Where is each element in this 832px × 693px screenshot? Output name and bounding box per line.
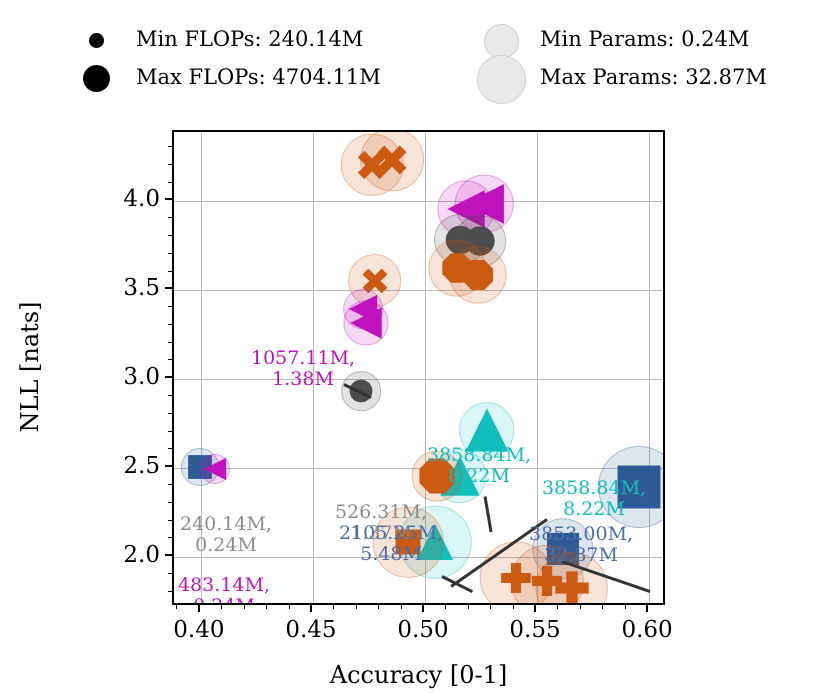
y-minor-tick (168, 306, 172, 307)
y-minor-tick (168, 342, 172, 343)
x-tick-label-0: 0.40 (173, 617, 224, 643)
y-tick-label-1: 2.5 (102, 453, 160, 479)
x-minor-tick (378, 605, 379, 609)
data-point-x (357, 150, 388, 181)
gridline-x-4 (649, 132, 650, 603)
legend-label-params-min: Min Params: 0.24M (540, 29, 749, 50)
x-tick-label-2: 0.50 (397, 617, 448, 643)
y-minor-tick (168, 146, 172, 147)
x-tick-label-3: 0.55 (509, 617, 560, 643)
x-minor-tick (176, 605, 177, 609)
y-tick-label-3: 3.5 (102, 275, 160, 301)
y-major-tick-4 (165, 198, 172, 200)
x-minor-tick (580, 605, 581, 609)
y-minor-tick (168, 573, 172, 574)
x-minor-tick (490, 605, 491, 609)
annotation-label-5: 3858.84M, 8.22M (427, 445, 531, 487)
x-major-tick-1 (310, 605, 312, 612)
legend-panel: Min FLOPs: 240.14MMax FLOPs: 4704.11MMin… (0, 0, 832, 118)
small-filled-circle-icon (89, 33, 104, 48)
large-filled-circle-icon (83, 65, 110, 92)
y-major-tick-1 (165, 465, 172, 467)
large-open-circle-icon (477, 55, 526, 104)
annotation-label-6: 3858.84M, 8.22M (542, 478, 646, 520)
data-point-triangle-left (204, 458, 226, 480)
x-minor-tick (266, 605, 267, 609)
y-minor-tick (168, 235, 172, 236)
annotation-label-4: 2105.25M, 5.48M (339, 523, 443, 565)
data-point-plus (555, 572, 588, 605)
annotation-label-0: 1057.11M, 1.38M (251, 348, 355, 390)
legend-label-flops-min: Min FLOPs: 240.14M (136, 29, 363, 50)
y-minor-tick (168, 591, 172, 592)
x-minor-tick (445, 605, 446, 609)
annotation-label-1: 240.14M, 0.24M (180, 514, 272, 556)
legend-label-params-max: Max Params: 32.87M (540, 67, 767, 88)
x-major-tick-4 (646, 605, 648, 612)
gridline-y-3 (174, 290, 663, 291)
x-minor-tick (356, 605, 357, 609)
x-minor-tick (289, 605, 290, 609)
x-tick-label-4: 0.60 (621, 617, 672, 643)
data-point-triangle-left (350, 308, 381, 339)
plot-area: 1057.11M, 1.38M240.14M, 0.24M483.14M, 0.… (172, 130, 665, 605)
gridline-y-2 (174, 379, 663, 380)
x-minor-tick (244, 605, 245, 609)
figure: 1057.11M, 1.38M240.14M, 0.24M483.14M, 0.… (0, 118, 832, 693)
y-minor-tick (168, 395, 172, 396)
y-minor-tick (168, 217, 172, 218)
y-minor-tick (168, 448, 172, 449)
small-open-circle-icon (484, 24, 519, 59)
x-axis-label: Accuracy [0-1] (172, 661, 665, 689)
y-tick-label-2: 3.0 (102, 364, 160, 390)
y-minor-tick (168, 431, 172, 432)
y-minor-tick (168, 271, 172, 272)
y-minor-tick (168, 484, 172, 485)
y-major-tick-2 (165, 376, 172, 378)
y-tick-label-0: 2.0 (102, 542, 160, 568)
y-minor-tick (168, 253, 172, 254)
x-tick-label-1: 0.45 (285, 617, 336, 643)
y-minor-tick (168, 502, 172, 503)
y-major-tick-3 (165, 287, 172, 289)
y-minor-tick (168, 413, 172, 414)
y-axis-label: NLL [nats] (16, 217, 44, 517)
gridline-y-4 (174, 201, 663, 202)
x-minor-tick (221, 605, 222, 609)
legend-label-flops-max: Max FLOPs: 4704.11M (136, 67, 381, 88)
y-minor-tick (168, 537, 172, 538)
y-minor-tick (168, 359, 172, 360)
y-minor-tick (168, 324, 172, 325)
x-minor-tick (557, 605, 558, 609)
y-tick-label-4: 4.0 (102, 186, 160, 212)
x-minor-tick (468, 605, 469, 609)
x-minor-tick (602, 605, 603, 609)
x-minor-tick (625, 605, 626, 609)
leader-line-5 (484, 496, 493, 531)
x-major-tick-2 (422, 605, 424, 612)
x-minor-tick (401, 605, 402, 609)
x-minor-tick (333, 605, 334, 609)
data-point-octagon (443, 253, 472, 282)
y-major-tick-0 (165, 554, 172, 556)
x-major-tick-0 (198, 605, 200, 612)
y-minor-tick (168, 164, 172, 165)
annotation-label-2: 483.14M, 0.24M (178, 575, 270, 605)
annotation-label-7: 3853.00M, 32.87M (529, 524, 633, 566)
x-minor-tick (513, 605, 514, 609)
y-minor-tick (168, 520, 172, 521)
x-major-tick-3 (534, 605, 536, 612)
y-minor-tick (168, 182, 172, 183)
